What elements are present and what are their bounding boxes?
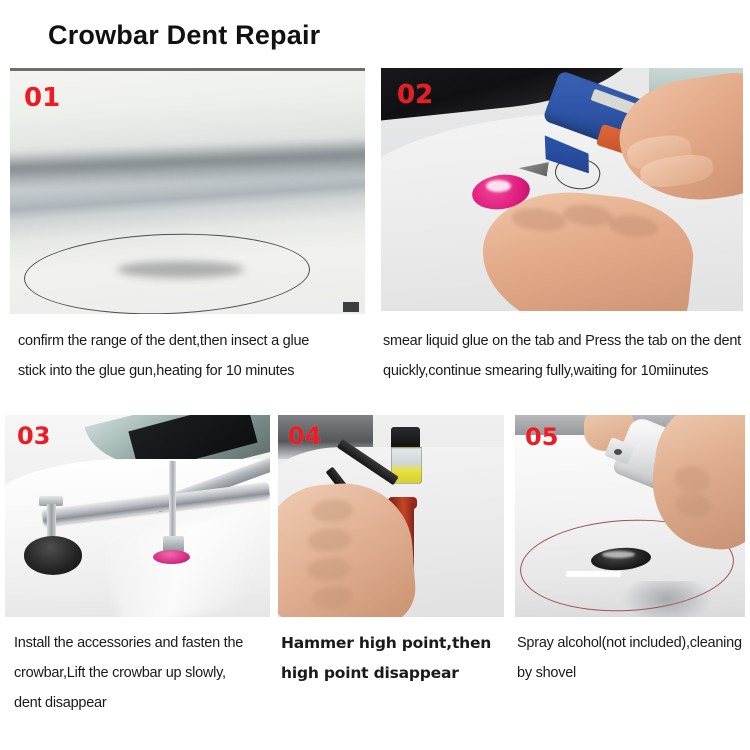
hammer-head-cap xyxy=(391,427,420,449)
step-image-04: 04 xyxy=(278,415,504,617)
puller-bolt xyxy=(169,461,176,542)
step-caption-02: smear liquid glue on the tab and Press t… xyxy=(383,326,745,386)
step-caption-05: Spray alcohol(not included),cleaning by … xyxy=(517,628,747,688)
step-image-01: 01 xyxy=(10,68,365,314)
step-image-02: 02 xyxy=(381,68,743,311)
caption-line: Hammer high point,then xyxy=(281,628,505,658)
surface-reflection xyxy=(566,571,621,577)
dent-outline-ellipse xyxy=(23,229,312,314)
caption-line: stick into the glue gun,heating for 10 m… xyxy=(18,356,368,386)
step-badge-04: 04 xyxy=(288,424,321,448)
corner-marker xyxy=(343,302,359,312)
caption-line: dent disappear xyxy=(14,688,270,718)
caption-line: Spray alcohol(not included),cleaning xyxy=(517,628,747,658)
step-caption-04: Hammer high point,then high point disapp… xyxy=(281,628,505,688)
caption-line: by shovel xyxy=(517,658,747,688)
knuckle xyxy=(306,556,352,582)
knuckle xyxy=(673,464,712,494)
step-caption-03: Install the accessories and fasten the c… xyxy=(14,628,270,718)
body-highlight xyxy=(10,136,365,191)
step-image-05: 05 xyxy=(515,415,745,617)
knuckle xyxy=(311,497,354,523)
step-badge-02: 02 xyxy=(397,82,433,108)
knuckle xyxy=(307,526,353,552)
step-badge-05: 05 xyxy=(525,425,558,449)
step-image-03: 03 xyxy=(5,415,270,617)
knuckle xyxy=(511,206,568,234)
step-badge-03: 03 xyxy=(17,424,50,448)
knuckle xyxy=(607,213,659,239)
caption-line: quickly,continue smearing fully,waiting … xyxy=(383,356,745,386)
page-title: Crowbar Dent Repair xyxy=(48,20,320,51)
knuckle xyxy=(674,490,713,520)
rubber-foot xyxy=(24,536,82,574)
knuckle xyxy=(311,585,354,610)
step-badge-01: 01 xyxy=(24,85,60,111)
caption-line: high point disappear xyxy=(281,658,505,688)
hot-glue-blob xyxy=(486,180,511,192)
caption-line: Install the accessories and fasten the xyxy=(14,628,270,658)
step-caption-01: confirm the range of the dent,then insec… xyxy=(18,326,368,386)
caption-line: smear liquid glue on the tab and Press t… xyxy=(383,326,745,356)
caption-line: crowbar,Lift the crowbar up slowly, xyxy=(14,658,270,688)
hand-shadow xyxy=(621,581,713,617)
caption-line: confirm the range of the dent,then insec… xyxy=(18,326,368,356)
knuckle xyxy=(562,203,614,229)
